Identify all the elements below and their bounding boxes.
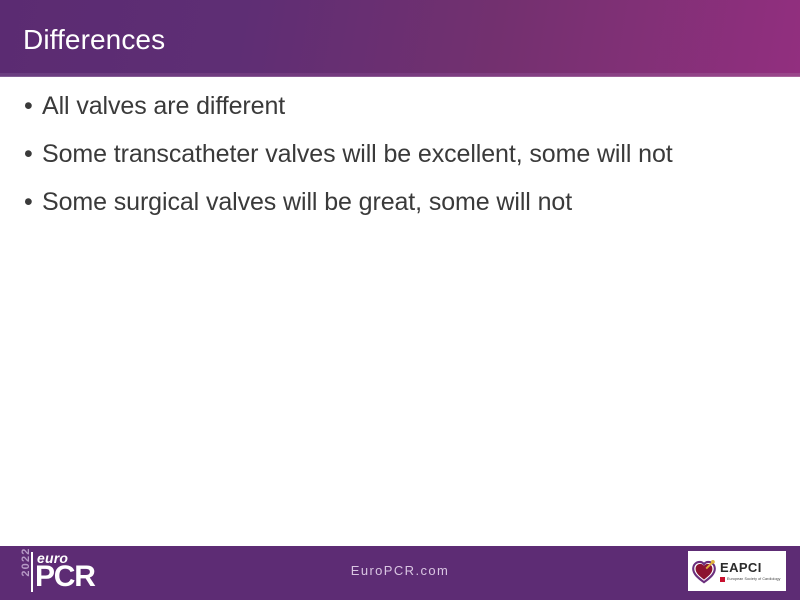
bullet-icon: • [24, 136, 42, 172]
list-item: • Some surgical valves will be great, so… [0, 184, 800, 220]
list-item-text: Some surgical valves will be great, some… [42, 184, 572, 220]
slide-body: • All valves are different • Some transc… [0, 88, 800, 232]
footer-website-label: EuroPCR.com [0, 563, 800, 578]
list-item: • All valves are different [0, 88, 800, 124]
bullet-icon: • [24, 184, 42, 220]
europcr-logo-divider [31, 552, 33, 592]
esc-square-icon [720, 577, 725, 582]
eapci-logo-subtitle-row: European Society of Cardiology [720, 577, 781, 582]
eapci-logo-subtitle: European Society of Cardiology [727, 577, 781, 582]
header-underline [0, 73, 800, 77]
eapci-logo: EAPCI European Society of Cardiology [688, 551, 786, 591]
page-title: Differences [23, 24, 165, 56]
bullet-icon: • [24, 88, 42, 124]
list-item: • Some transcatheter valves will be exce… [0, 136, 800, 172]
slide: Differences • All valves are different •… [0, 0, 800, 600]
list-item-text: All valves are different [42, 88, 285, 124]
eapci-logo-text: EAPCI European Society of Cardiology [717, 561, 781, 582]
europcr-logo: 2022 euro PCR [10, 550, 115, 594]
eapci-logo-name: EAPCI [720, 561, 781, 575]
europcr-logo-name: PCR [35, 562, 95, 592]
list-item-text: Some transcatheter valves will be excell… [42, 136, 673, 172]
heart-icon [691, 558, 717, 584]
